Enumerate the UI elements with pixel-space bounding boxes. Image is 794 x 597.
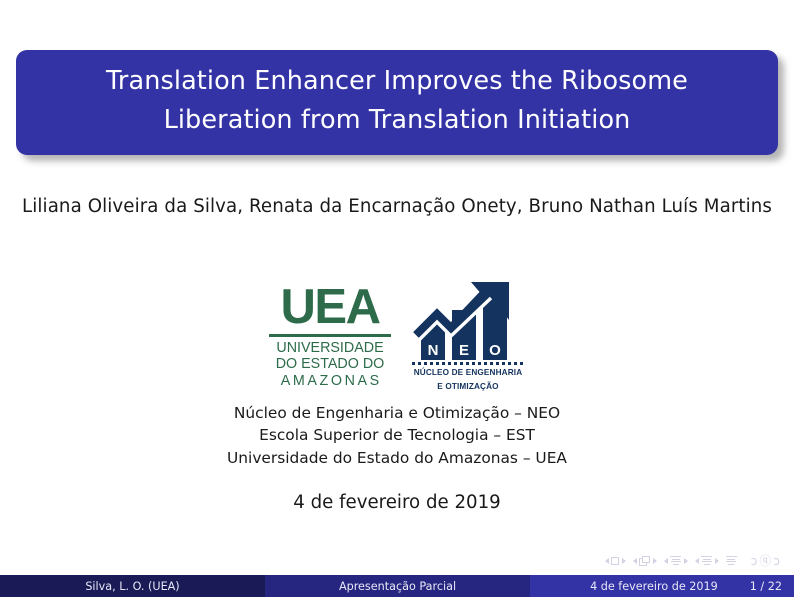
back-icon[interactable]: ɔ — [751, 554, 758, 568]
presentation-slide: Translation Enhancer Improves the Riboso… — [0, 0, 794, 597]
affiliation-line-3: Universidade do Estado do Amazonas – UEA — [0, 447, 794, 469]
document-navigation-group[interactable] — [726, 556, 737, 565]
affiliation-line-2: Escola Superior de Tecnologia – EST — [0, 424, 794, 446]
history-navigation-group[interactable]: ɔ ⓠ ɔ — [751, 552, 780, 569]
affiliation-line-1: Núcleo de Engenharia e Otimização – NEO — [0, 402, 794, 424]
logo-row: UEA UNIVERSIDADE DO ESTADO DO AMAZONAS — [0, 278, 794, 393]
page-title: Translation Enhancer Improves the Riboso… — [47, 62, 747, 140]
next-slide-icon[interactable] — [622, 558, 626, 564]
footer-page-number: 1 / 22 — [750, 580, 782, 593]
uea-line-1: UNIVERSIDADE — [276, 340, 383, 357]
frames-icon[interactable] — [639, 556, 650, 566]
svg-text:O: O — [489, 342, 501, 359]
affiliation-block: Núcleo de Engenharia e Otimização – NEO … — [0, 402, 794, 469]
footer-right: 4 de fevereiro de 2019 1 / 22 — [530, 575, 794, 597]
subsection-navigation-group[interactable] — [664, 556, 688, 565]
neo-caption-line-1: NÚCLEO DE ENGENHARIA — [414, 367, 523, 379]
footer-title: Apresentação Parcial — [265, 575, 530, 597]
prev-frame-icon[interactable] — [633, 558, 637, 564]
beamer-navigation-bar[interactable]: ɔ ⓠ ɔ — [605, 552, 780, 569]
svg-text:N: N — [428, 342, 439, 359]
uea-line-2: DO ESTADO DO — [276, 356, 385, 373]
neo-dotted-divider — [412, 362, 524, 365]
next-section-icon[interactable] — [715, 558, 719, 564]
next-subsection-icon[interactable] — [684, 558, 688, 564]
next-frame-icon[interactable] — [653, 558, 657, 564]
document-icon[interactable] — [726, 556, 737, 565]
frame-navigation-group[interactable] — [633, 556, 657, 566]
slide-date: 4 de fevereiro de 2019 — [0, 492, 794, 513]
search-icon[interactable]: ⓠ — [759, 552, 771, 569]
section-navigation-group[interactable] — [695, 556, 719, 565]
prev-slide-icon[interactable] — [605, 558, 609, 564]
svg-text:E: E — [459, 342, 469, 359]
section-icon[interactable] — [701, 556, 712, 565]
prev-section-icon[interactable] — [695, 558, 699, 564]
neo-logo: N E O NÚCLEO DE ENGENHARIA E OTIMIZAÇÃO — [408, 278, 528, 393]
forward-icon[interactable]: ɔ — [773, 554, 780, 568]
slide-navigation-group[interactable] — [605, 557, 626, 565]
current-slide-icon[interactable] — [611, 557, 619, 565]
title-block: Translation Enhancer Improves the Riboso… — [16, 50, 778, 155]
author-list: Liliana Oliveira da Silva, Renata da Enc… — [0, 192, 794, 222]
prev-subsection-icon[interactable] — [664, 558, 668, 564]
uea-line-3: AMAZONAS — [281, 373, 382, 390]
neo-growth-chart-icon: N E O — [413, 280, 523, 360]
uea-divider — [269, 334, 391, 337]
neo-caption-line-2: E OTIMIZAÇÃO — [437, 381, 498, 393]
subsection-icon[interactable] — [670, 556, 681, 565]
footer-author: Silva, L. O. (UEA) — [0, 575, 265, 597]
footer-date: 4 de fevereiro de 2019 — [590, 580, 718, 593]
uea-logo: UEA UNIVERSIDADE DO ESTADO DO AMAZONAS — [266, 278, 394, 390]
uea-acronym-text: UEA — [281, 284, 380, 331]
slide-footer: Silva, L. O. (UEA) Apresentação Parcial … — [0, 575, 794, 597]
